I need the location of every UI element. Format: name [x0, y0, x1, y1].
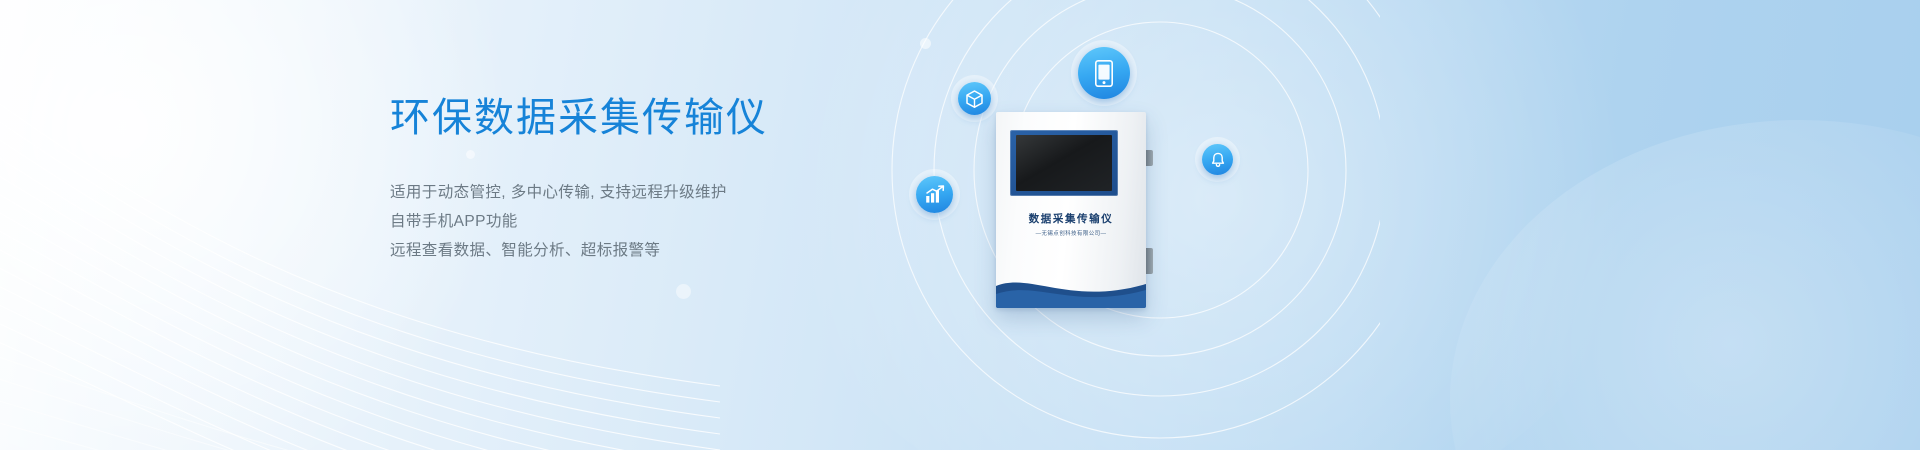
feature-line-2: 自带手机APP功能 [390, 207, 910, 236]
device-label: 数据采集传输仪 [996, 211, 1146, 226]
device-screen-bezel [1010, 130, 1118, 196]
phone-glyph [1095, 60, 1113, 87]
decorative-dot [676, 284, 691, 299]
bell-icon[interactable] [1202, 144, 1233, 175]
chart-glyph [925, 185, 945, 204]
bell-glyph [1210, 152, 1226, 168]
product-device-image: 数据采集传输仪 —无锡点创科技有限公司— [996, 112, 1146, 308]
phone-icon[interactable] [1078, 47, 1130, 99]
decorative-dot [920, 38, 931, 49]
feature-line-1: 适用于动态管控, 多中心传输, 支持远程升级维护 [390, 178, 910, 207]
device-side-port-bottom [1146, 248, 1153, 274]
device-body: 数据采集传输仪 —无锡点创科技有限公司— [996, 112, 1146, 308]
device-wave-graphic [996, 264, 1146, 308]
cube-glyph [966, 90, 983, 108]
feature-line-3: 远程查看数据、智能分析、超标报警等 [390, 236, 910, 265]
chart-icon[interactable] [916, 176, 953, 213]
hero-copy: 环保数据采集传输仪 适用于动态管控, 多中心传输, 支持远程升级维护 自带手机A… [390, 96, 910, 265]
device-company-label: —无锡点创科技有限公司— [996, 229, 1146, 237]
feature-list: 适用于动态管控, 多中心传输, 支持远程升级维护 自带手机APP功能 远程查看数… [390, 178, 910, 265]
background-glow-right [1450, 120, 1920, 450]
page-title: 环保数据采集传输仪 [390, 96, 910, 140]
cube-icon[interactable] [958, 82, 991, 115]
device-side-port-top [1146, 150, 1153, 166]
hero-banner: 环保数据采集传输仪 适用于动态管控, 多中心传输, 支持远程升级维护 自带手机A… [0, 0, 1920, 450]
device-screen [1016, 135, 1112, 191]
